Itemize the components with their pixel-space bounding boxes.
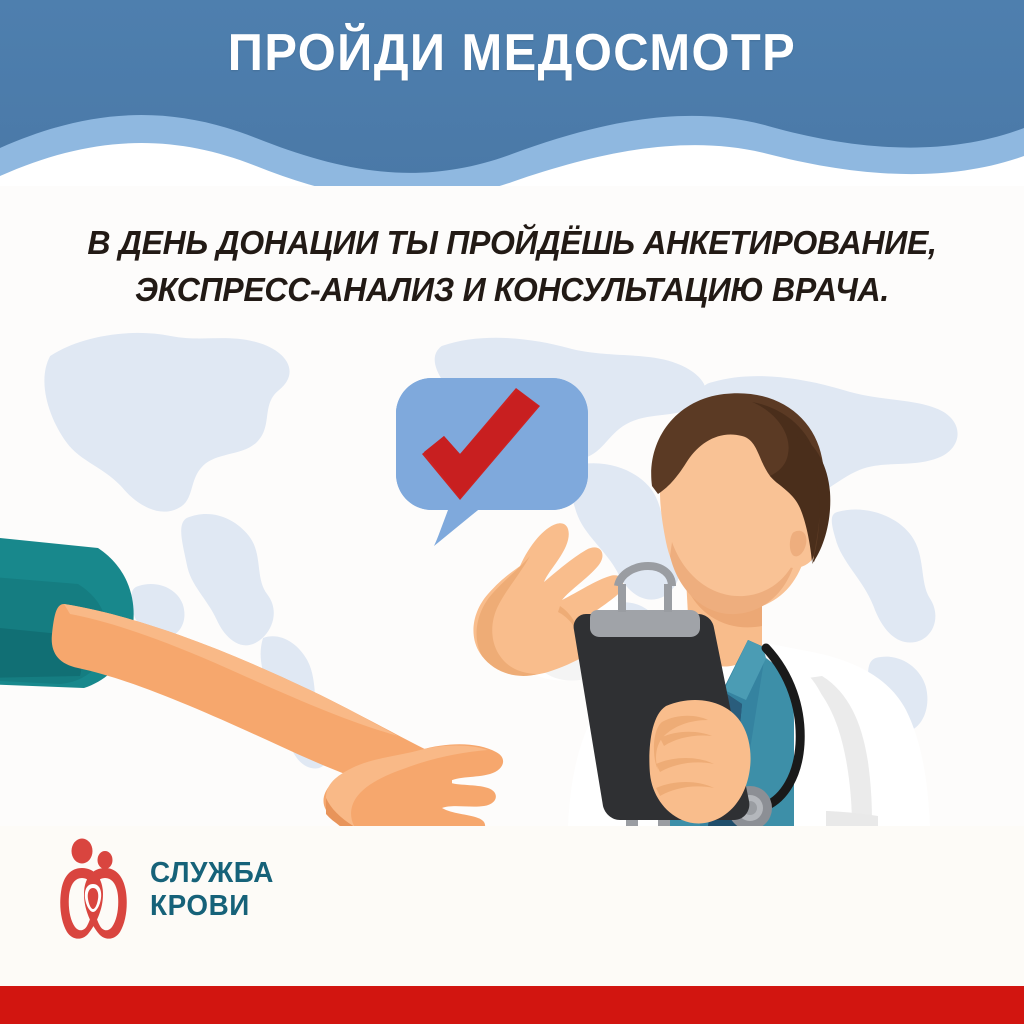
logo-text-line-1: СЛУЖБА (150, 857, 274, 890)
poster-root: ПРОЙДИ МЕДОСМОТР В ДЕНЬ ДОНАЦИИ ТЫ ПРОЙД… (0, 0, 1024, 1024)
speech-bubble-overlay (0, 186, 1024, 826)
check-bubble (396, 378, 588, 546)
poster-header: ПРОЙДИ МЕДОСМОТР (0, 0, 1024, 196)
blood-service-heart-logo-icon (58, 838, 136, 942)
poster-body: В ДЕНЬ ДОНАЦИИ ТЫ ПРОЙДЁШЬ АНКЕТИРОВАНИЕ… (0, 186, 1024, 826)
blood-service-logo: СЛУЖБА КРОВИ (58, 838, 279, 942)
bottom-red-bar (0, 986, 1024, 1024)
blood-service-logo-text: СЛУЖБА КРОВИ (150, 857, 274, 923)
page-title: ПРОЙДИ МЕДОСМОТР (31, 26, 994, 81)
logo-text-line-2: КРОВИ (150, 890, 274, 923)
header-wave-decoration (0, 96, 1024, 196)
